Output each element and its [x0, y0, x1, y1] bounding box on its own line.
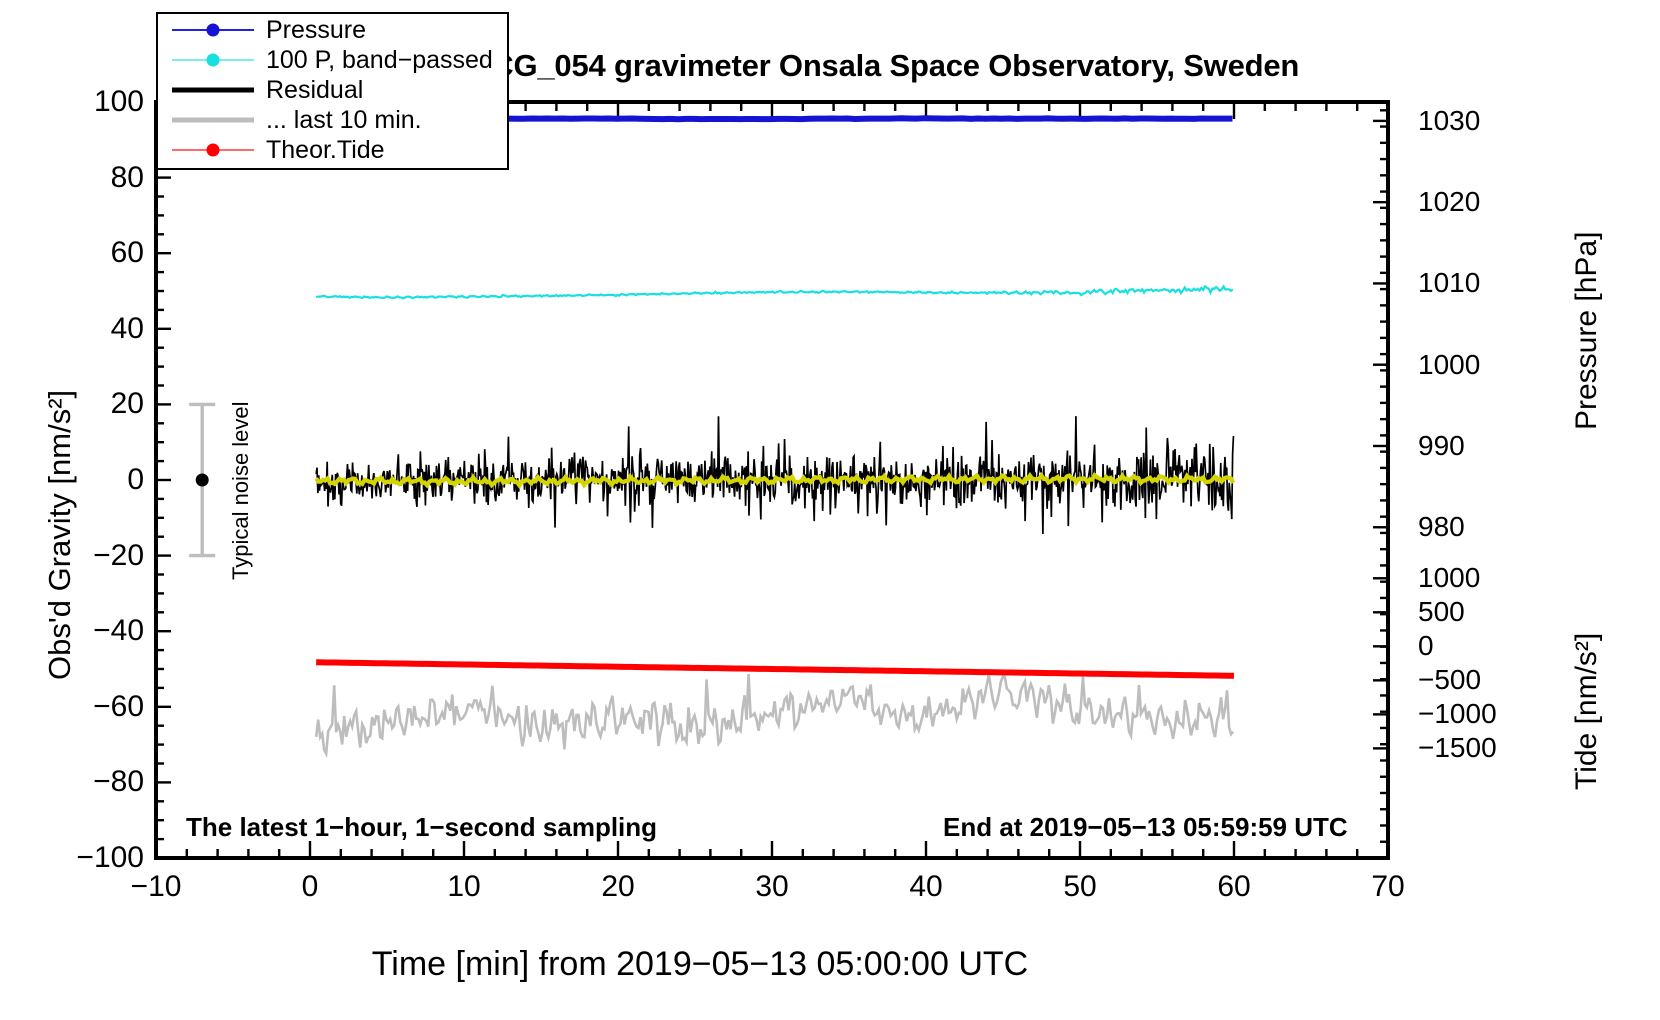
y-right-pressure-tick-label: 1020 — [1418, 186, 1480, 218]
legend-label-last-10-min: ... last 10 min. — [266, 106, 422, 135]
legend-swatch-residual — [172, 76, 254, 104]
y-right-pressure-tick-label: 1000 — [1418, 349, 1480, 381]
x-tick-label: 20 — [601, 870, 634, 904]
legend-label-pressure: Pressure — [266, 16, 366, 45]
x-tick-label: 70 — [1371, 870, 1404, 904]
y-right-tide-tick-label: −1000 — [1418, 698, 1497, 730]
y-left-tick-label: −100 — [0, 841, 144, 875]
x-tick-label: 10 — [447, 870, 480, 904]
y-axis-right-top-title: Pressure [hPa] — [1570, 232, 1604, 430]
chart-root: −10010203040506070 100806040200−20−40−60… — [0, 0, 1660, 1020]
typical-noise-level-label: Typical noise level — [228, 401, 254, 580]
y-right-tide-tick-label: 1000 — [1418, 562, 1480, 594]
legend-swatch-band-passed — [172, 46, 254, 74]
y-left-tick-label: −80 — [0, 765, 144, 799]
y-left-tick-label: 60 — [0, 236, 144, 270]
x-tick-label: −10 — [131, 870, 182, 904]
legend-label-theor-tide: Theor.Tide — [266, 136, 385, 165]
x-tick-label: 50 — [1063, 870, 1096, 904]
y-axis-left-title: Obs'd Gravity [nm/s²] — [42, 390, 78, 680]
y-right-pressure-tick-label: 980 — [1418, 511, 1465, 543]
y-left-tick-label: 80 — [0, 161, 144, 195]
bottom-left-note: The latest 1−hour, 1−second sampling — [186, 812, 657, 843]
legend-swatch-theor-tide — [172, 136, 254, 164]
y-left-tick-label: −60 — [0, 690, 144, 724]
y-right-tide-tick-label: 0 — [1418, 630, 1434, 662]
y-axis-right-bottom-title: Tide [nm/s²] — [1570, 633, 1604, 790]
legend-item-residual[interactable]: Residual — [158, 76, 507, 104]
y-right-tide-tick-label: −1500 — [1418, 732, 1497, 764]
legend-item-theor-tide[interactable]: Theor.Tide — [158, 136, 507, 164]
x-axis-title: Time [min] from 2019−05−13 05:00:00 UTC — [0, 945, 1400, 984]
y-right-tide-tick-label: 500 — [1418, 596, 1465, 628]
x-tick-label: 30 — [755, 870, 788, 904]
legend-label-residual: Residual — [266, 76, 363, 105]
chart-title: SCG_054 gravimeter Onsala Space Observat… — [380, 48, 1390, 84]
x-tick-label: 60 — [1217, 870, 1250, 904]
y-right-pressure-tick-label: 1010 — [1418, 267, 1480, 299]
y-left-tick-label: 100 — [0, 85, 144, 119]
x-tick-label: 40 — [909, 870, 942, 904]
legend-item-band-passed[interactable]: 100 P, band−passed — [158, 46, 507, 74]
legend-swatch-pressure — [172, 16, 254, 44]
y-right-pressure-tick-label: 1030 — [1418, 105, 1480, 137]
legend-swatch-last-10-min — [172, 106, 254, 134]
y-right-pressure-tick-label: 990 — [1418, 430, 1465, 462]
legend-item-pressure[interactable]: Pressure — [158, 16, 507, 44]
legend-item-last-10-min[interactable]: ... last 10 min. — [158, 106, 507, 134]
legend-label-band-passed: 100 P, band−passed — [266, 46, 493, 75]
y-right-tide-tick-label: −500 — [1418, 664, 1481, 696]
legend: Pressure 100 P, band−passed Residual ...… — [156, 12, 509, 170]
y-left-tick-label: 40 — [0, 312, 144, 346]
bottom-right-note: End at 2019−05−13 05:59:59 UTC — [943, 812, 1348, 843]
x-tick-label: 0 — [302, 870, 319, 904]
